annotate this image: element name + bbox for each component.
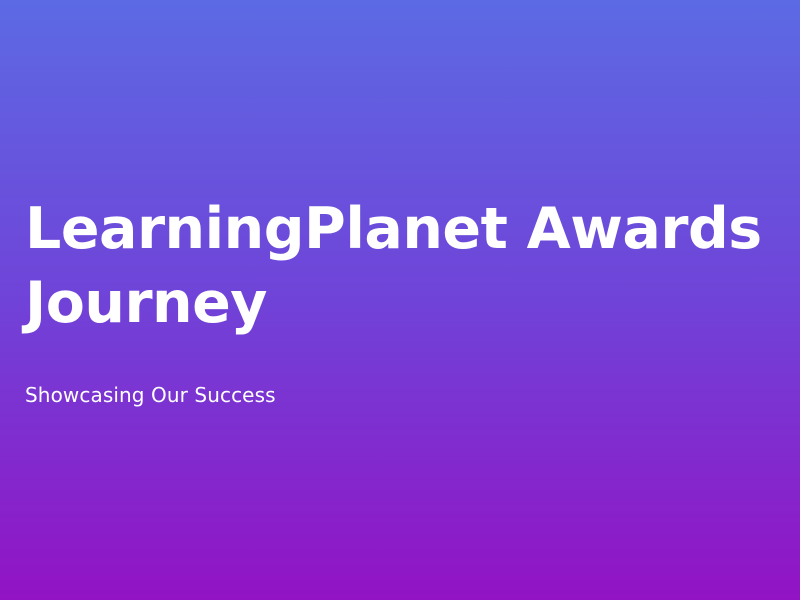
slide-content-block: LearningPlanet Awards Journey Showcasing…: [0, 0, 800, 600]
slide-subtitle: Showcasing Our Success: [25, 382, 276, 408]
presentation-slide: LearningPlanet Awards Journey Showcasing…: [0, 0, 800, 600]
slide-title: LearningPlanet Awards Journey: [25, 192, 765, 340]
